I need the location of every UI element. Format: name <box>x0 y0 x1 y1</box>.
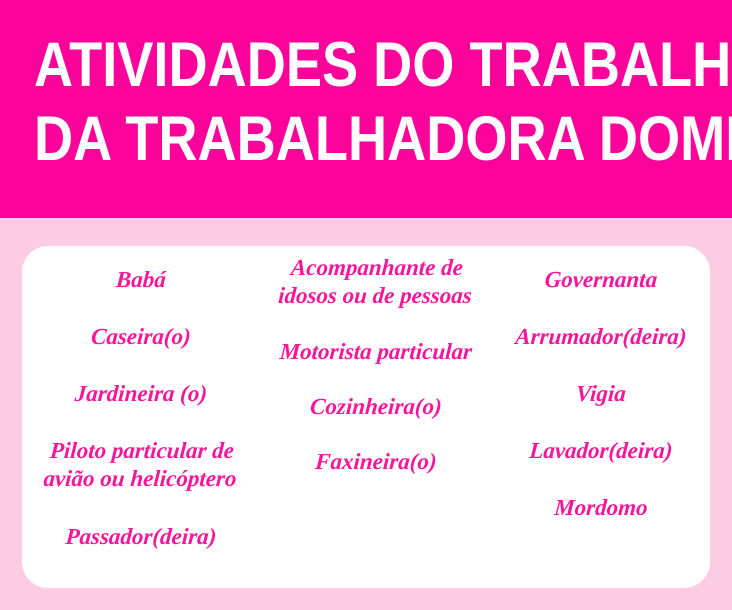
list-item: Acompanhante de idosos ou de pessoas <box>258 254 494 310</box>
activities-columns: Babá Caseira(o) Jardineira (o) Piloto pa… <box>22 246 710 588</box>
list-item: Piloto particular de avião ou helicópter… <box>20 437 262 493</box>
poster-title-line-1: ATIVIDADES DO TRABALHADOR E <box>34 28 608 102</box>
list-item: Caseira(o) <box>21 323 261 350</box>
activities-card: Babá Caseira(o) Jardineira (o) Piloto pa… <box>22 246 710 588</box>
poster-title-line-2: DA TRABALHADORA DOMÉSTICA <box>34 102 608 176</box>
header-band: ATIVIDADES DO TRABALHADOR E DA TRABALHAD… <box>0 0 732 218</box>
list-item: Arrumador(deira) <box>491 323 711 350</box>
list-item: Jardineira (o) <box>21 380 261 407</box>
list-item: Faxineira(o) <box>259 448 493 475</box>
activities-column-left: Babá Caseira(o) Jardineira (o) Piloto pa… <box>22 246 260 550</box>
poster-root: ATIVIDADES DO TRABALHADOR E DA TRABALHAD… <box>0 0 732 610</box>
list-item: Passador(deira) <box>21 523 261 550</box>
activities-column-middle: Acompanhante de idosos ou de pessoas Mot… <box>260 246 492 475</box>
activities-column-right: Governanta Arrumador(deira) Vigia Lavado… <box>492 246 710 521</box>
list-item: Lavador(deira) <box>491 437 711 464</box>
list-item: Babá <box>21 266 261 293</box>
list-item: Governanta <box>491 266 711 293</box>
list-item: Motorista particular <box>259 338 493 365</box>
list-item: Cozinheira(o) <box>259 393 493 420</box>
list-item: Vigia <box>491 380 711 407</box>
list-item: Mordomo <box>491 494 711 521</box>
